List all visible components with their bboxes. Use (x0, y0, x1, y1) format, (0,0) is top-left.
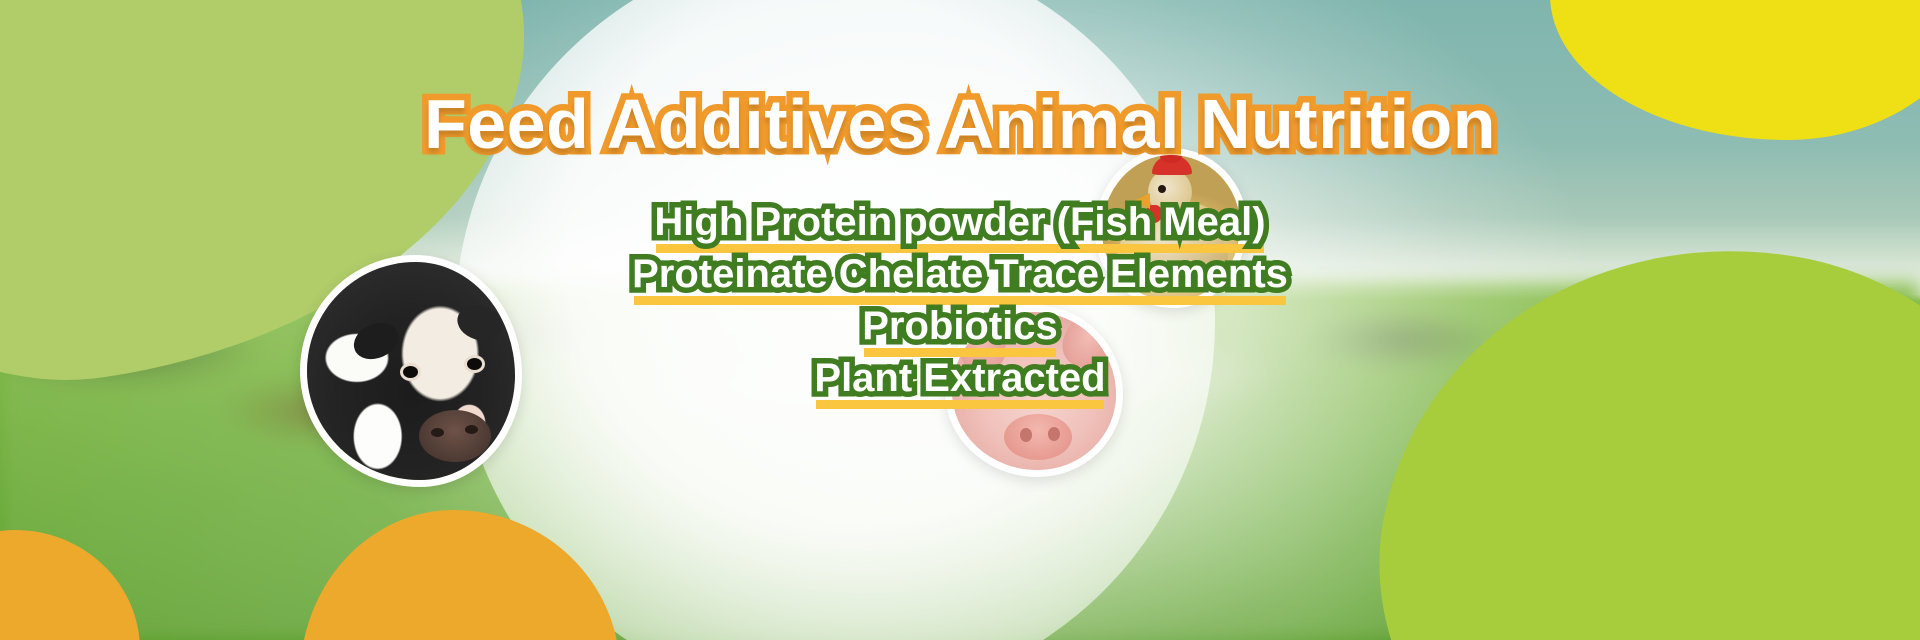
banner-headline: Feed Additives Animal Nutrition (0, 84, 1920, 164)
cow-muzzle (419, 410, 491, 462)
product-line-wrap: Plant Extracted (814, 352, 1105, 413)
cow-nostril-left (431, 428, 444, 437)
product-line: Plant Extracted (0, 352, 1920, 404)
cow-nostril-right (465, 425, 478, 434)
piglet-nostril-right (1048, 427, 1060, 441)
product-line: Proteinate Chelate Trace Elements (0, 248, 1920, 300)
product-underline (816, 400, 1103, 409)
product-label: Plant Extracted (814, 356, 1105, 400)
chicken-eye (1158, 185, 1166, 193)
banner-product-list: High Protein powder (Fish Meal) Proteina… (0, 196, 1920, 404)
product-line: High Protein powder (Fish Meal) (0, 196, 1920, 248)
product-label: Proteinate Chelate Trace Elements (632, 252, 1288, 296)
piglet-nostril-left (1020, 428, 1032, 442)
product-line: Probiotics (0, 300, 1920, 352)
product-label: Probiotics (862, 304, 1058, 348)
product-label: High Protein powder (Fish Meal) (654, 200, 1265, 244)
piglet-snout (1004, 414, 1072, 460)
promo-banner: Feed Additives Animal Nutrition High Pro… (0, 0, 1920, 640)
